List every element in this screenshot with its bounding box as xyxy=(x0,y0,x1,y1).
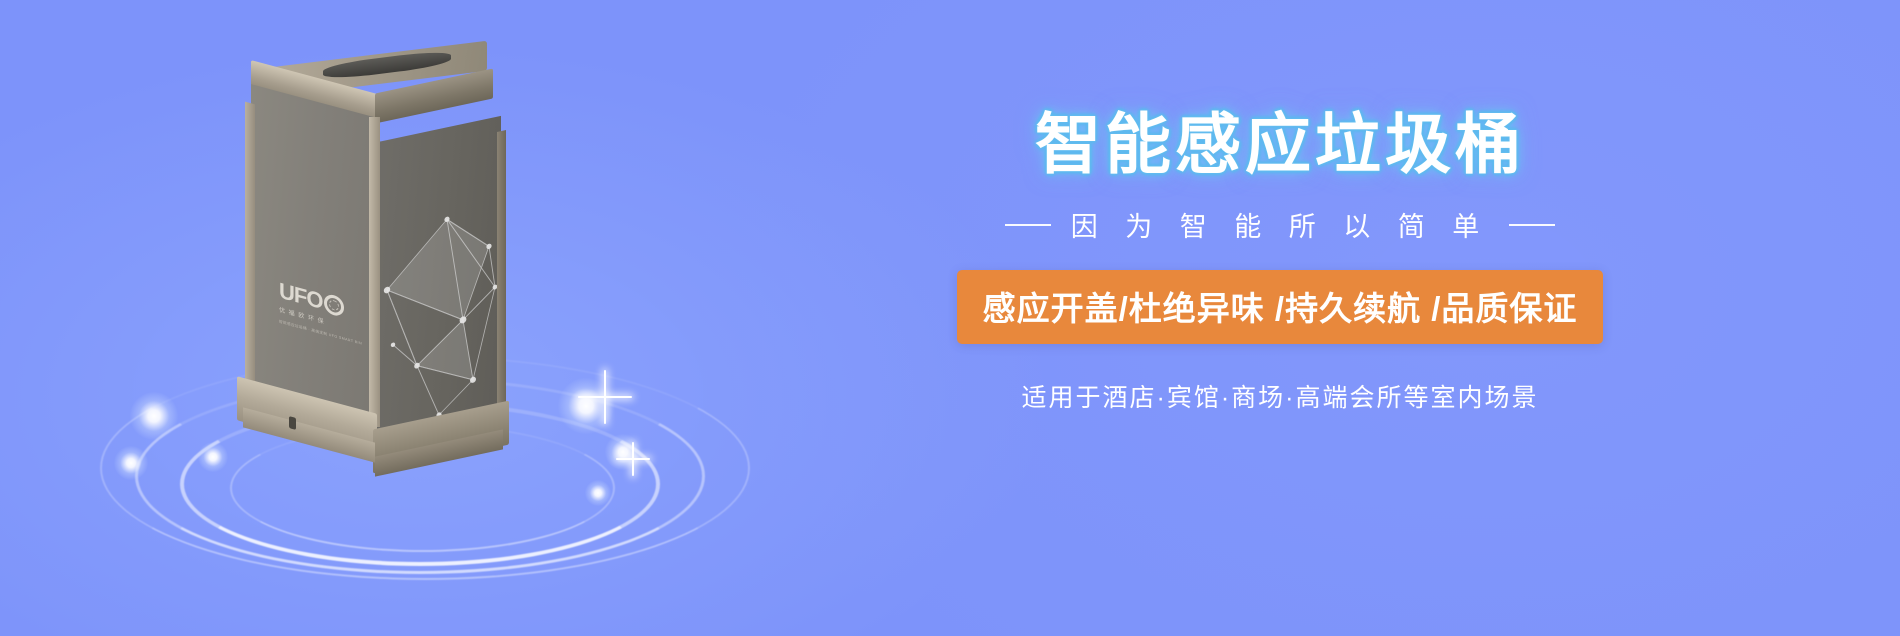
banner-copy: 智能感应垃圾桶 因 为 智 能 所 以 简 单 感应开盖/杜绝异味 /持久续航 … xyxy=(720,110,1840,414)
bin-face-left xyxy=(251,84,377,418)
subline-rule-right xyxy=(1509,224,1555,226)
sparkle-icon xyxy=(585,480,611,506)
banner-headline: 智能感应垃圾桶 xyxy=(720,110,1840,179)
sparkle-icon xyxy=(130,392,178,440)
bin-edge-right xyxy=(497,130,506,428)
banner-subline: 因 为 智 能 所 以 简 单 xyxy=(720,205,1840,244)
bin-edge-center xyxy=(369,117,380,427)
smart-trash-bin: UFO 优 福 欧 环 保 智能感应垃圾桶 · 高端定制 UFO SMART B… xyxy=(235,55,505,445)
usage-scenario-text: 适用于酒店·宾馆·商场·高端会所等室内场景 xyxy=(720,378,1840,414)
bin-base xyxy=(233,385,513,475)
promo-banner: UFO 优 福 欧 环 保 智能感应垃圾桶 · 高端定制 UFO SMART B… xyxy=(0,0,1900,636)
base-sensor-slot xyxy=(289,416,296,430)
star-sparkle-icon xyxy=(616,442,650,476)
tagline-wrapper: 感应开盖/杜绝异味 /持久续航 /品质保证 xyxy=(720,244,1840,344)
sparkle-icon xyxy=(114,446,148,480)
bin-edge-left xyxy=(245,102,255,403)
brand-logo-ring-icon xyxy=(324,293,344,318)
sparkle-icon xyxy=(198,442,228,472)
subline-rule-left xyxy=(1005,224,1051,226)
subline-text: 因 为 智 能 所 以 简 单 xyxy=(1071,205,1490,244)
product-image: UFO 优 福 欧 环 保 智能感应垃圾桶 · 高端定制 UFO SMART B… xyxy=(80,20,780,620)
star-sparkle-icon xyxy=(578,370,632,424)
feature-tagline-badge: 感应开盖/杜绝异味 /持久续航 /品质保证 xyxy=(957,270,1604,344)
